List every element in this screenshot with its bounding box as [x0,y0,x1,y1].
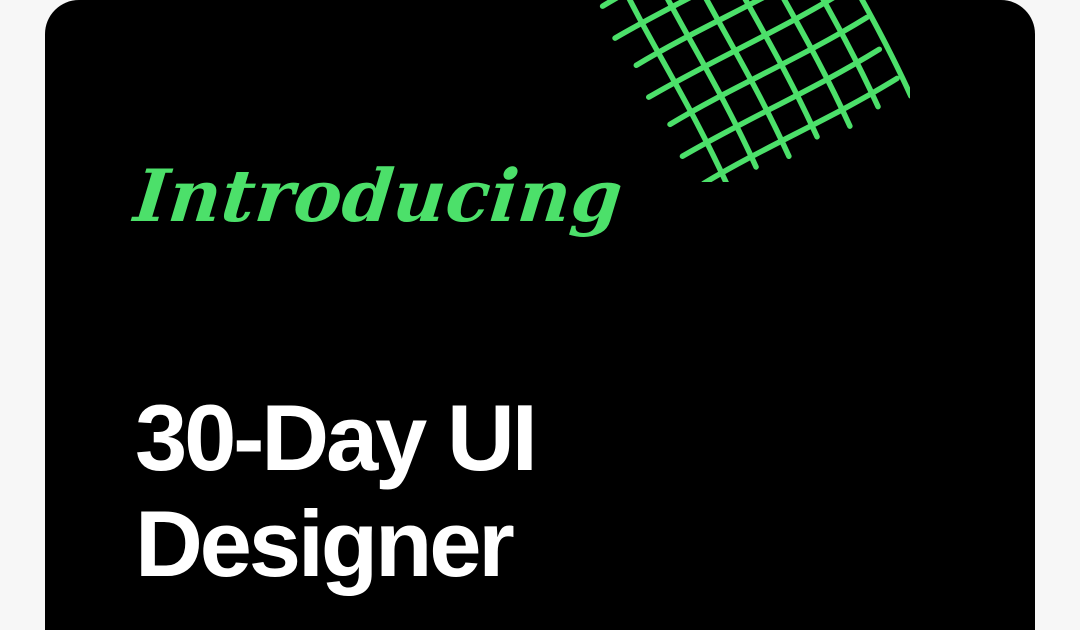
eyebrow-label: Introducing [131,160,626,232]
headline-line-2: Designer [135,491,655,597]
headline-line-1: 30-Day UI [135,385,655,491]
hand-drawn-grid-pattern-icon [590,0,910,182]
page-title: 30-Day UI Designer [135,385,655,597]
promo-card[interactable]: Introducing 30-Day UI Designer [45,0,1035,630]
screen-root: Introducing 30-Day UI Designer [0,0,1080,630]
